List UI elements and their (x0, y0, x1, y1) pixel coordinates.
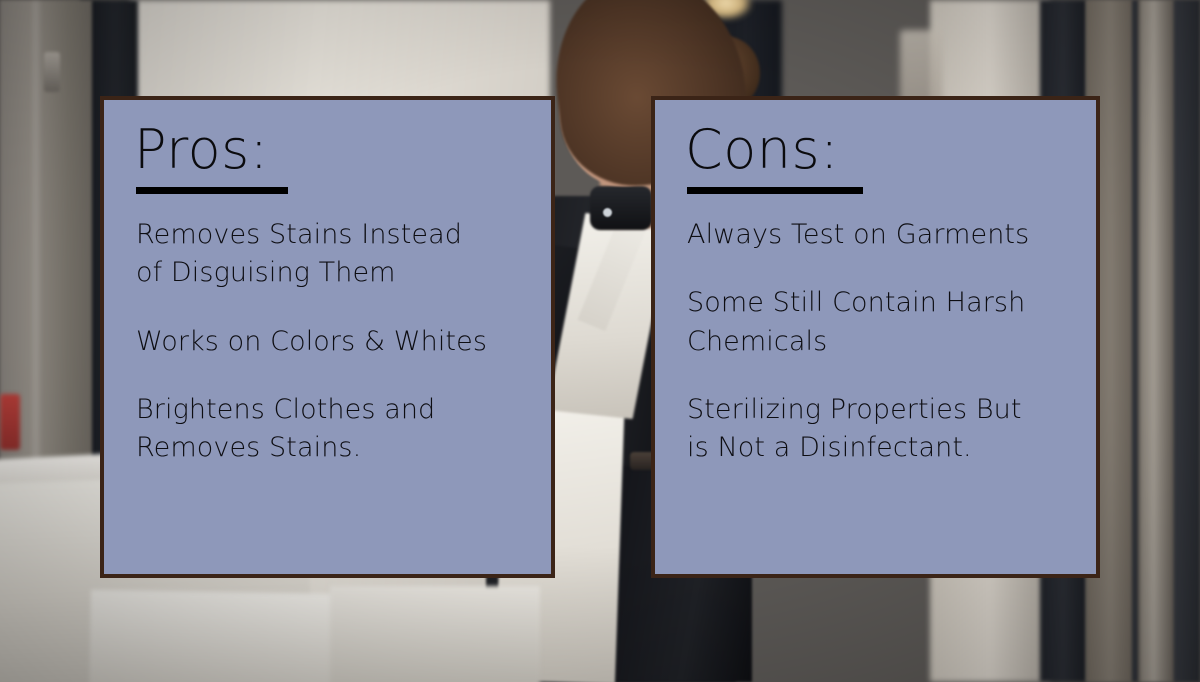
uniform-collar (590, 186, 652, 230)
red-object (0, 394, 20, 450)
linen-sheet-a (89, 590, 361, 682)
door-gap-right (1132, 0, 1138, 682)
pros-panel: Pros: Removes Stains Instead of Disguisi… (100, 96, 555, 578)
pros-item-2: Works on Colors & Whites (136, 323, 496, 361)
pros-title-rule (136, 187, 288, 194)
cons-title-rule (687, 187, 863, 194)
pros-title: Pros: (134, 122, 523, 181)
collar-stud (603, 208, 612, 217)
slide-root: Pros: Removes Stains Instead of Disguisi… (0, 0, 1200, 682)
linen-sheet-b (330, 586, 540, 682)
cons-item-1: Always Test on Garments (687, 216, 1047, 254)
door-panel-right-2 (1140, 0, 1174, 682)
pros-item-3: Brightens Clothes and Removes Stains. (136, 391, 496, 468)
wall-hook (44, 52, 60, 92)
cons-panel: Cons: Always Test on Garments Some Still… (651, 96, 1100, 578)
pros-item-1: Removes Stains Instead of Disguising The… (136, 216, 496, 293)
cons-item-3: Sterilizing Properties But is Not a Disi… (687, 391, 1047, 468)
cons-item-2: Some Still Contain Harsh Chemicals (687, 284, 1047, 361)
cons-title: Cons: (685, 122, 1068, 181)
door-panel-right-3 (1174, 0, 1200, 682)
